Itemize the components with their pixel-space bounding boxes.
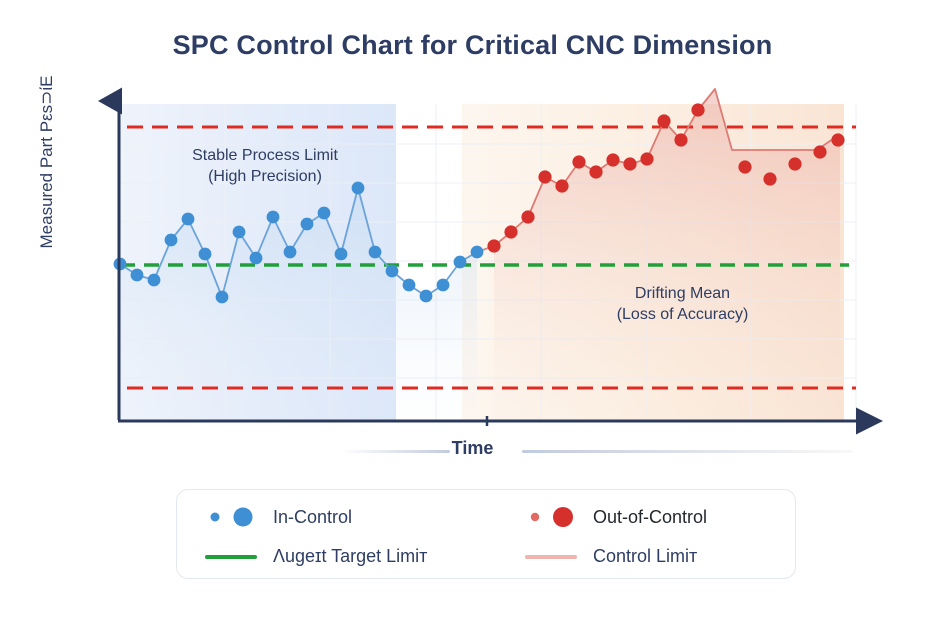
data-point	[788, 157, 801, 170]
data-point	[420, 290, 433, 303]
target-limit-line-icon	[205, 555, 257, 559]
data-point	[738, 160, 751, 173]
data-point	[657, 114, 670, 127]
chart-legend: In-Control Out-of-Control Λugeɪt Target …	[176, 489, 796, 579]
data-point	[454, 256, 467, 269]
data-point	[504, 225, 517, 238]
data-point	[471, 246, 484, 259]
legend-label-control-limit: Control Limiт	[593, 546, 697, 567]
data-point	[182, 213, 195, 226]
legend-label-in-control: In-Control	[273, 507, 352, 528]
stable-annotation: Stable Process Limit (High Precision)	[140, 145, 390, 187]
data-point	[691, 103, 704, 116]
data-point	[386, 265, 399, 278]
data-point	[763, 172, 776, 185]
stable-annotation-line1: Stable Process Limit	[140, 145, 390, 166]
out-of-control-marker-icon	[525, 506, 593, 528]
data-point	[437, 279, 450, 292]
legend-label-out-of-control: Out-of-Control	[593, 507, 707, 528]
data-point	[250, 252, 263, 265]
data-point	[572, 155, 585, 168]
drift-annotation: Drifting Mean (Loss of Accuracy)	[575, 283, 790, 325]
data-point	[403, 279, 416, 292]
data-point	[131, 269, 144, 282]
control-limit-line-icon	[525, 555, 577, 559]
legend-item-out-of-control[interactable]: Out-of-Control	[525, 506, 707, 528]
data-point	[233, 226, 246, 239]
in-control-marker-icon	[205, 506, 273, 528]
data-point	[335, 248, 348, 261]
data-point	[301, 218, 314, 231]
y-axis-label: Measured Part Pεs⊃ίΕ	[37, 37, 57, 287]
legend-label-target-limit: Λugeɪt Target Limiт	[273, 546, 427, 567]
data-point	[831, 133, 844, 146]
plot-area: Measured Part Pεs⊃ίΕ Stable Process Limi…	[0, 0, 945, 470]
data-point	[521, 210, 534, 223]
data-point	[216, 291, 229, 304]
data-point	[674, 133, 687, 146]
legend-item-in-control[interactable]: In-Control	[205, 506, 352, 528]
data-point	[813, 145, 826, 158]
drift-annotation-line1: Drifting Mean	[575, 283, 790, 304]
data-point	[148, 274, 161, 287]
data-point	[199, 248, 212, 261]
data-point	[606, 153, 619, 166]
data-point	[538, 170, 551, 183]
data-point	[284, 246, 297, 259]
stable-annotation-line2: (High Precision)	[140, 166, 390, 187]
data-point	[555, 179, 568, 192]
x-axis-label: Time	[0, 438, 945, 459]
data-point	[589, 165, 602, 178]
drift-annotation-line2: (Loss of Accuracy)	[575, 304, 790, 325]
data-point	[487, 239, 500, 252]
data-point	[267, 211, 280, 224]
legend-item-target-limit[interactable]: Λugeɪt Target Limiт	[205, 546, 427, 567]
data-point	[369, 246, 382, 259]
legend-item-control-limit[interactable]: Control Limiт	[525, 546, 697, 567]
data-point	[623, 157, 636, 170]
data-point	[318, 207, 331, 220]
chart-canvas	[0, 0, 945, 470]
spc-chart-page: SPC Control Chart for Critical CNC Dimen…	[0, 0, 945, 630]
data-point	[640, 152, 653, 165]
data-point	[165, 234, 178, 247]
